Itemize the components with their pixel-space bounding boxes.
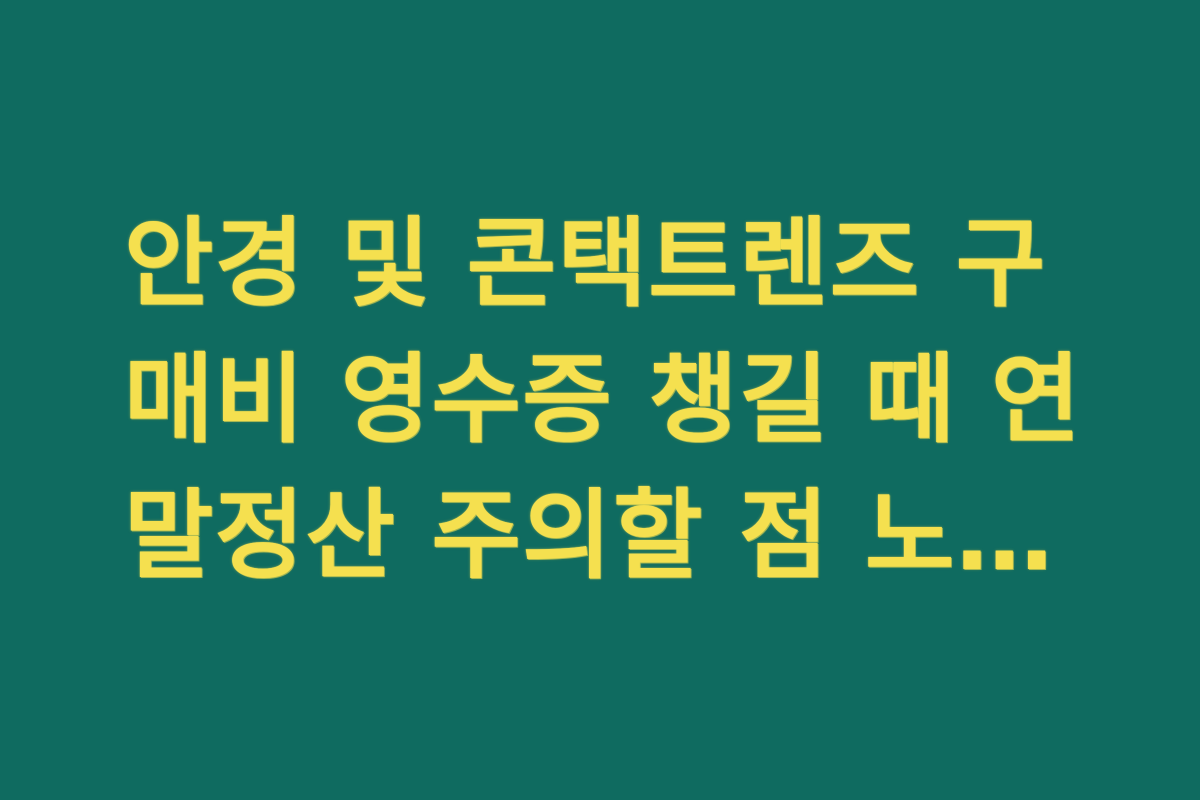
- headline-line-3: 말정산 주의할 점 노…: [124, 468, 1104, 604]
- headline-line-1: 안경 및 콘택트렌즈 구: [124, 196, 1104, 332]
- headline-card: 안경 및 콘택트렌즈 구 매비 영수증 챙길 때 연 말정산 주의할 점 노…: [0, 0, 1200, 800]
- headline-text-block: 안경 및 콘택트렌즈 구 매비 영수증 챙길 때 연 말정산 주의할 점 노…: [124, 196, 1104, 604]
- headline-line-2: 매비 영수증 챙길 때 연: [124, 332, 1104, 468]
